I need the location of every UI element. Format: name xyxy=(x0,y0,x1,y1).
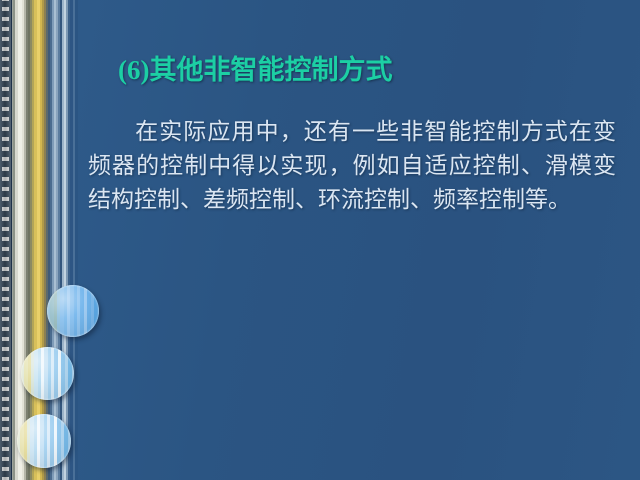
circle-rim xyxy=(17,414,71,468)
decorative-circle-middle xyxy=(21,347,74,400)
film-strip-sheen xyxy=(0,0,11,480)
slide-body-text: 在实际应用中，还有一些非智能控制方式在变频器的控制中得以实现，例如自适应控制、滑… xyxy=(88,115,616,217)
decorative-circle-bottom xyxy=(17,414,71,468)
body-paragraph: 在实际应用中，还有一些非智能控制方式在变频器的控制中得以实现，例如自适应控制、滑… xyxy=(88,119,616,212)
presentation-slide: (6)其他非智能控制方式 在实际应用中，还有一些非智能控制方式在变频器的控制中得… xyxy=(0,0,640,480)
circle-rim xyxy=(21,347,74,400)
slide-title: (6)其他非智能控制方式 xyxy=(118,48,392,87)
decorative-circle-top xyxy=(47,285,99,337)
film-strip-edge xyxy=(0,0,12,480)
circle-rim xyxy=(47,285,99,337)
